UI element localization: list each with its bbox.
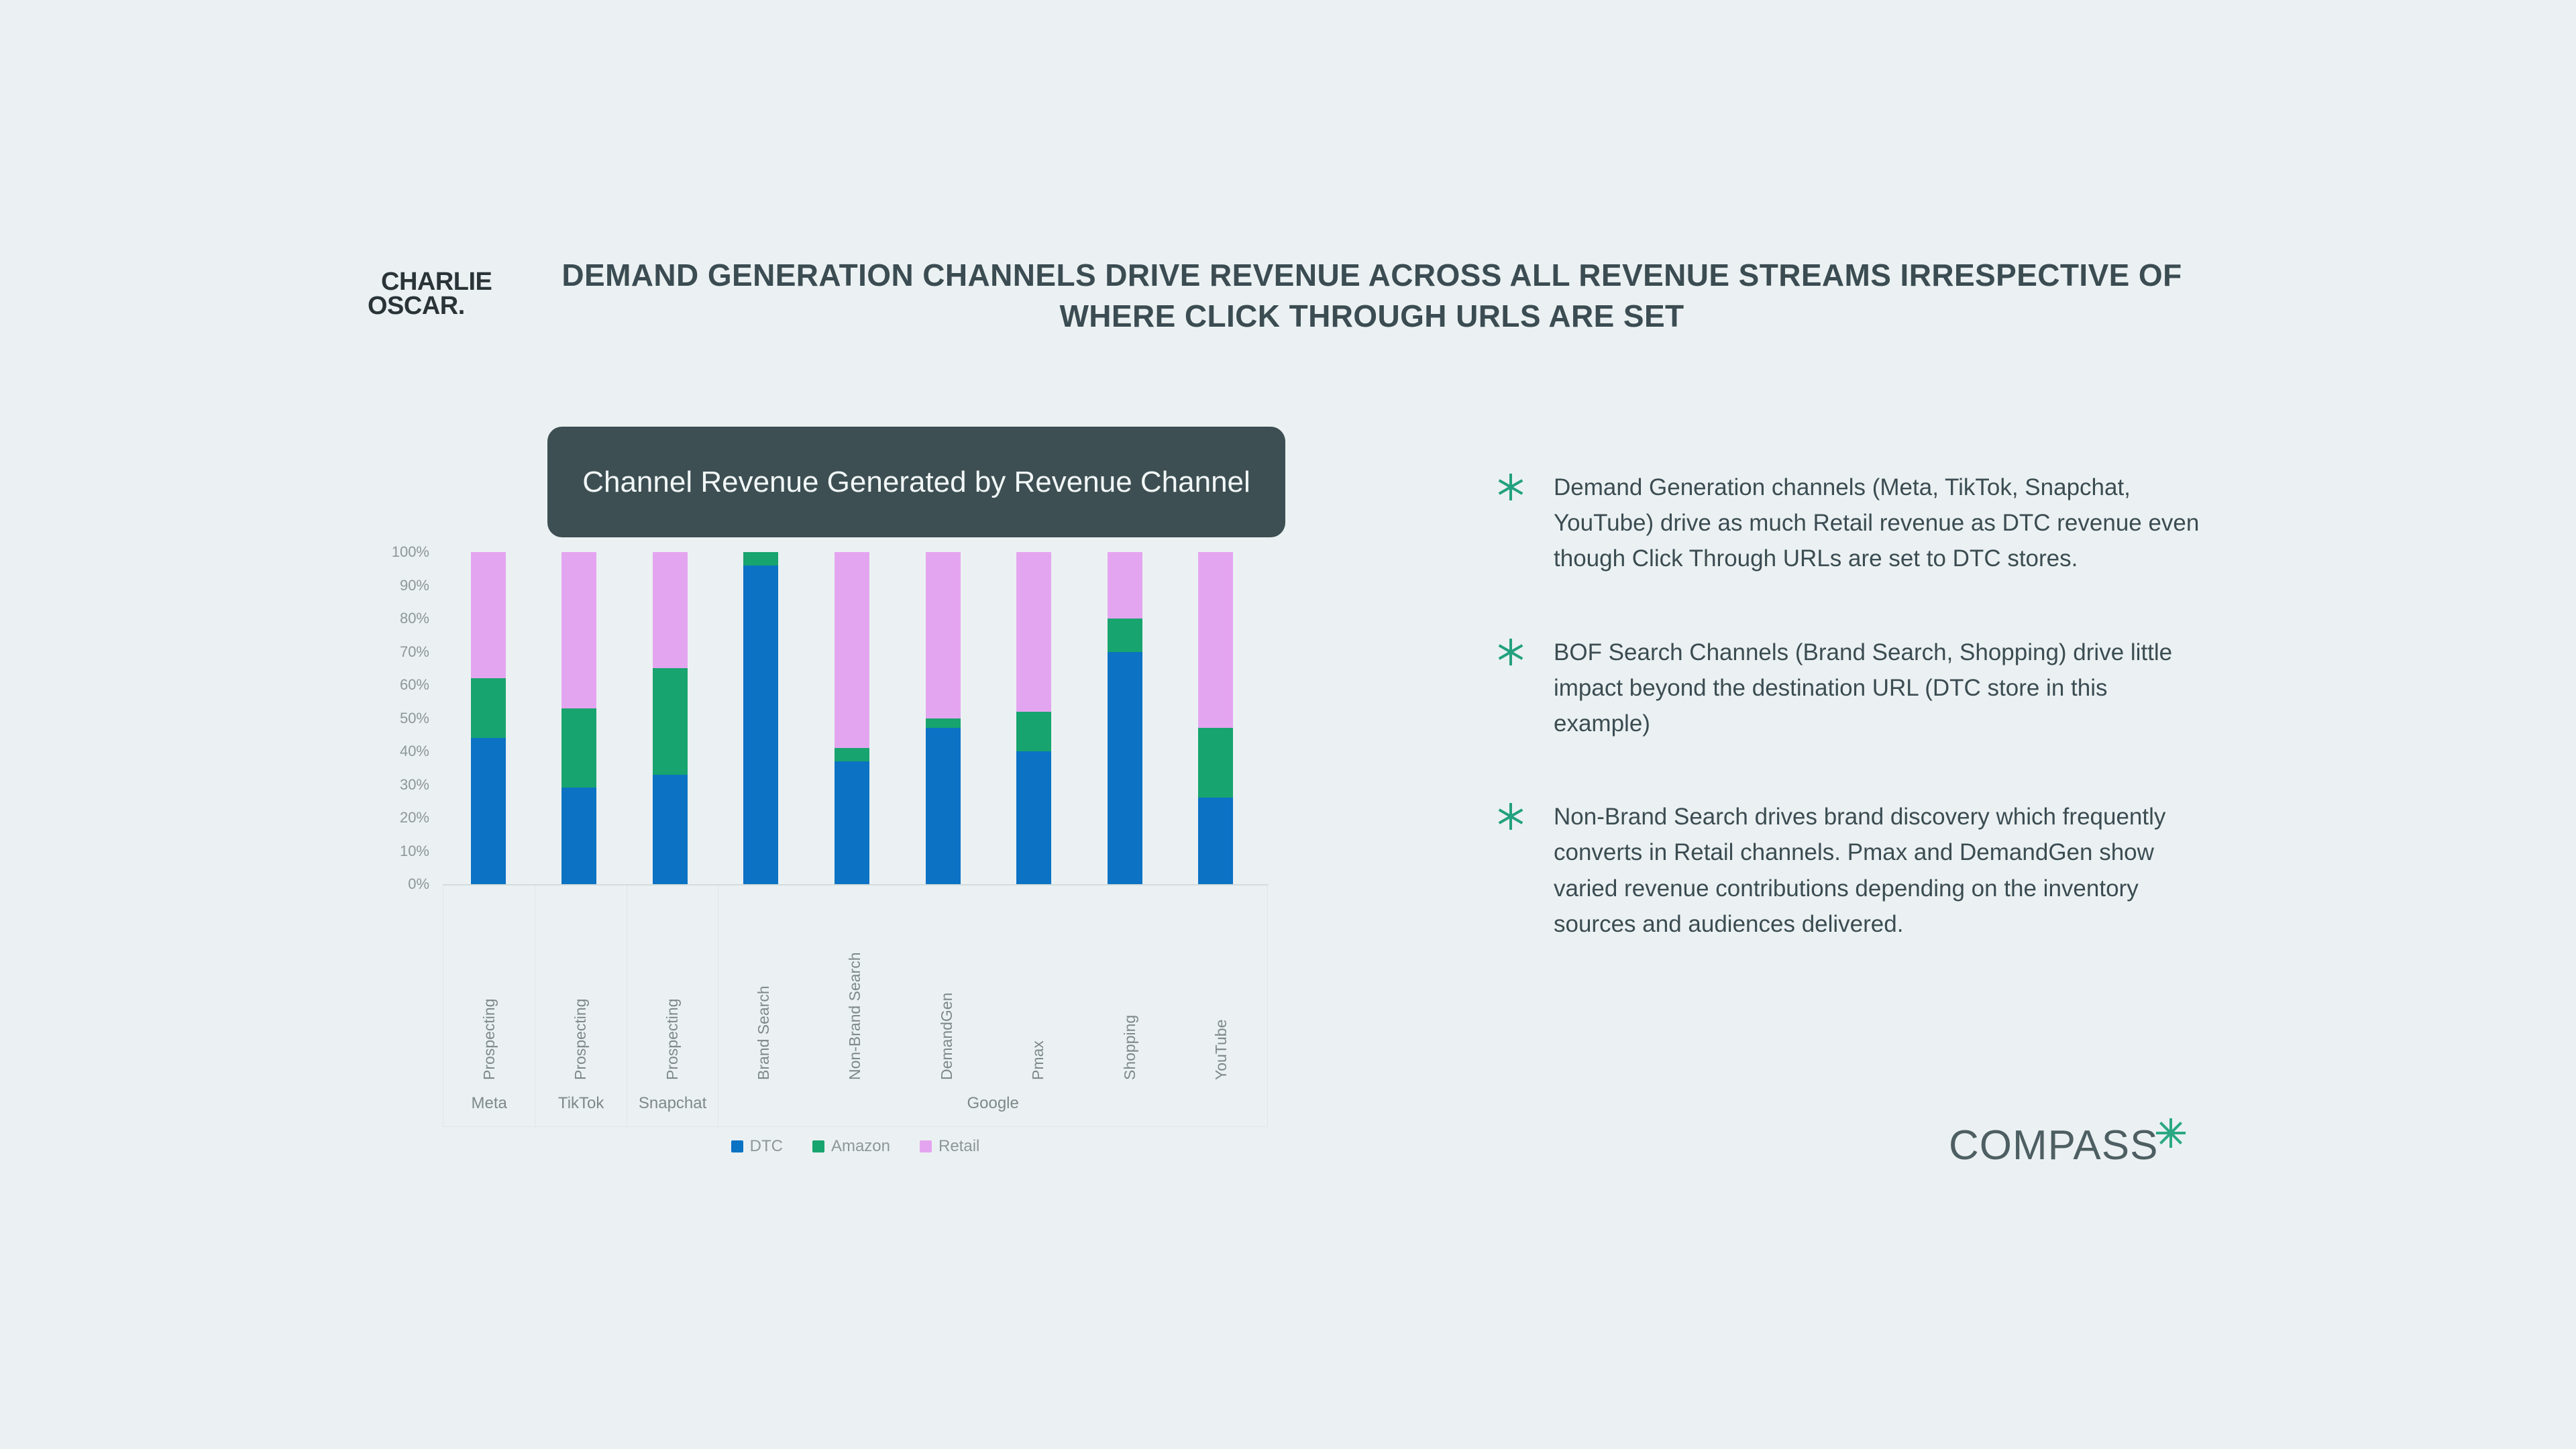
x-axis-tick-label: YouTube: [1212, 892, 1230, 1080]
plot-wrapper: 100%90%80%70%60%50%40%30%20%10%0% Prospe…: [335, 547, 1462, 1191]
chart-legend: DTCAmazonRetail: [443, 1137, 1268, 1156]
stacked-bar[interactable]: [743, 552, 778, 884]
bar-series-container: [443, 552, 1261, 884]
y-axis-tick: 30%: [400, 776, 429, 794]
bar-segment-retail: [471, 552, 506, 678]
chart-title: Channel Revenue Generated by Revenue Cha…: [582, 463, 1250, 501]
legend-label: Amazon: [831, 1137, 890, 1156]
y-axis-tick: 80%: [400, 610, 429, 627]
insight-item: Non-Brand Search drives brand discovery …: [1496, 799, 2207, 942]
bar-segment-dtc: [561, 788, 596, 884]
charlie-oscar-logo: CHARLIE OSCAR.: [368, 270, 549, 318]
x-label-cell: Non-Brand Search: [810, 885, 901, 1080]
bar-slot: [534, 552, 625, 884]
group-label-snapchat: Snapchat: [627, 1080, 718, 1127]
x-axis-tick-label: Pmax: [1029, 892, 1047, 1080]
legend-swatch-amazon: [812, 1140, 824, 1152]
stacked-bar[interactable]: [835, 552, 869, 884]
group-label-meta: Meta: [443, 1080, 535, 1127]
bar-segment-dtc: [1108, 652, 1142, 885]
group-label-google: Google: [718, 1080, 1267, 1127]
brand-line-2: OSCAR.: [368, 294, 549, 318]
y-axis-tick: 0%: [408, 875, 429, 893]
bar-segment-dtc: [743, 566, 778, 884]
bar-slot: [806, 552, 898, 884]
page-title: DEMAND GENERATION CHANNELS DRIVE REVENUE…: [550, 255, 2194, 337]
bar-slot: [716, 552, 807, 884]
bar-segment-retail: [1198, 552, 1233, 728]
bar-segment-dtc: [1198, 798, 1233, 884]
bar-segment-dtc: [471, 738, 506, 884]
y-axis-tick: 100%: [392, 543, 429, 561]
y-axis-tick: 90%: [400, 577, 429, 594]
bar-segment-amazon: [471, 678, 506, 738]
x-label-cell: Pmax: [993, 885, 1084, 1080]
y-axis-tick: 60%: [400, 676, 429, 694]
legend-label: Retail: [938, 1137, 979, 1156]
insight-item: BOF Search Channels (Brand Search, Shopp…: [1496, 635, 2207, 742]
bar-slot: [898, 552, 989, 884]
bar-segment-amazon: [835, 748, 869, 761]
stacked-bar[interactable]: [561, 552, 596, 884]
asterisk-bullet-icon: [1496, 802, 1525, 831]
x-label-cell: YouTube: [1176, 885, 1267, 1080]
group-label-tiktok: TikTok: [535, 1080, 626, 1127]
x-label-cell: Shopping: [1084, 885, 1175, 1080]
insight-text: Non-Brand Search drives brand discovery …: [1554, 799, 2207, 942]
stacked-bar[interactable]: [1016, 552, 1051, 884]
y-axis-tick: 40%: [400, 743, 429, 760]
legend-swatch-dtc: [731, 1140, 743, 1152]
y-axis-tick: 50%: [400, 710, 429, 727]
compass-logo: COMPASS: [1949, 1122, 2186, 1169]
bar-segment-amazon: [653, 668, 688, 774]
y-axis-tick: 10%: [400, 843, 429, 860]
insight-text: BOF Search Channels (Brand Search, Shopp…: [1554, 635, 2207, 742]
bar-slot: [443, 552, 534, 884]
x-axis-tick-label: Shopping: [1121, 892, 1139, 1080]
y-axis: 100%90%80%70%60%50%40%30%20%10%0%: [335, 547, 435, 882]
group-divider: [535, 885, 535, 1080]
bar-segment-retail: [926, 552, 961, 718]
asterisk-bullet-icon: [1496, 472, 1525, 502]
x-axis-tick-label: DemandGen: [938, 892, 956, 1080]
insight-item: Demand Generation channels (Meta, TikTok…: [1496, 470, 2207, 577]
bar-segment-dtc: [1016, 751, 1051, 884]
asterisk-bullet-icon: [1496, 637, 1525, 667]
bar-segment-amazon: [561, 708, 596, 788]
x-axis-tick-label: Brand Search: [755, 892, 773, 1080]
x-label-cell: Brand Search: [718, 885, 809, 1080]
x-label-cell: Prospecting: [535, 885, 626, 1080]
stacked-bar[interactable]: [471, 552, 506, 884]
bar-slot: [988, 552, 1079, 884]
stacked-bar[interactable]: [653, 552, 688, 884]
bar-slot: [1171, 552, 1262, 884]
legend-swatch-retail: [920, 1140, 932, 1152]
asterisk-icon: [2155, 1118, 2186, 1148]
insight-text: Demand Generation channels (Meta, TikTok…: [1554, 470, 2207, 577]
bar-segment-amazon: [743, 552, 778, 566]
bar-segment-amazon: [926, 718, 961, 729]
stacked-bar[interactable]: [926, 552, 961, 884]
x-axis-labels: ProspectingProspectingProspectingBrand S…: [443, 885, 1268, 1080]
bar-slot: [1079, 552, 1171, 884]
bar-segment-amazon: [1016, 712, 1051, 751]
legend-item-retail[interactable]: Retail: [920, 1137, 979, 1156]
y-axis-tick: 20%: [400, 809, 429, 826]
x-axis-group-labels: MetaTikTokSnapchatGoogle: [443, 1080, 1268, 1127]
x-label-cell: Prospecting: [443, 885, 535, 1080]
chart-panel: Channel Revenue Generated by Revenue Cha…: [335, 416, 1462, 1194]
x-axis-tick-label: Non-Brand Search: [846, 892, 864, 1080]
stacked-bar[interactable]: [1108, 552, 1142, 884]
y-axis-tick: 70%: [400, 643, 429, 661]
chart-title-box: Channel Revenue Generated by Revenue Cha…: [547, 427, 1285, 537]
bar-segment-amazon: [1198, 728, 1233, 798]
bar-segment-dtc: [835, 761, 869, 884]
plot-area: [443, 552, 1261, 884]
bar-segment-retail: [561, 552, 596, 708]
brand-line-1: CHARLIE: [368, 270, 549, 294]
insights-list: Demand Generation channels (Meta, TikTok…: [1496, 470, 2207, 1000]
x-axis-tick-label: Prospecting: [663, 892, 682, 1080]
compass-wordmark: COMPASS: [1949, 1122, 2158, 1169]
bar-segment-retail: [1016, 552, 1051, 712]
x-axis-tick-label: Prospecting: [572, 892, 590, 1080]
x-label-cell: Prospecting: [627, 885, 718, 1080]
slide-root: CHARLIE OSCAR. DEMAND GENERATION CHANNEL…: [0, 0, 2576, 1449]
bar-segment-retail: [835, 552, 869, 748]
stacked-bar[interactable]: [1198, 552, 1233, 884]
legend-item-amazon[interactable]: Amazon: [812, 1137, 890, 1156]
bar-slot: [625, 552, 716, 884]
bar-segment-amazon: [1108, 619, 1142, 652]
group-divider: [627, 885, 627, 1080]
x-axis-tick-label: Prospecting: [480, 892, 498, 1080]
x-label-cell: DemandGen: [901, 885, 992, 1080]
legend-label: DTC: [750, 1137, 783, 1156]
bar-segment-retail: [653, 552, 688, 668]
group-divider: [718, 885, 718, 1080]
bar-segment-retail: [1108, 552, 1142, 619]
bar-segment-dtc: [926, 728, 961, 884]
bar-segment-dtc: [653, 775, 688, 884]
legend-item-dtc[interactable]: DTC: [731, 1137, 783, 1156]
